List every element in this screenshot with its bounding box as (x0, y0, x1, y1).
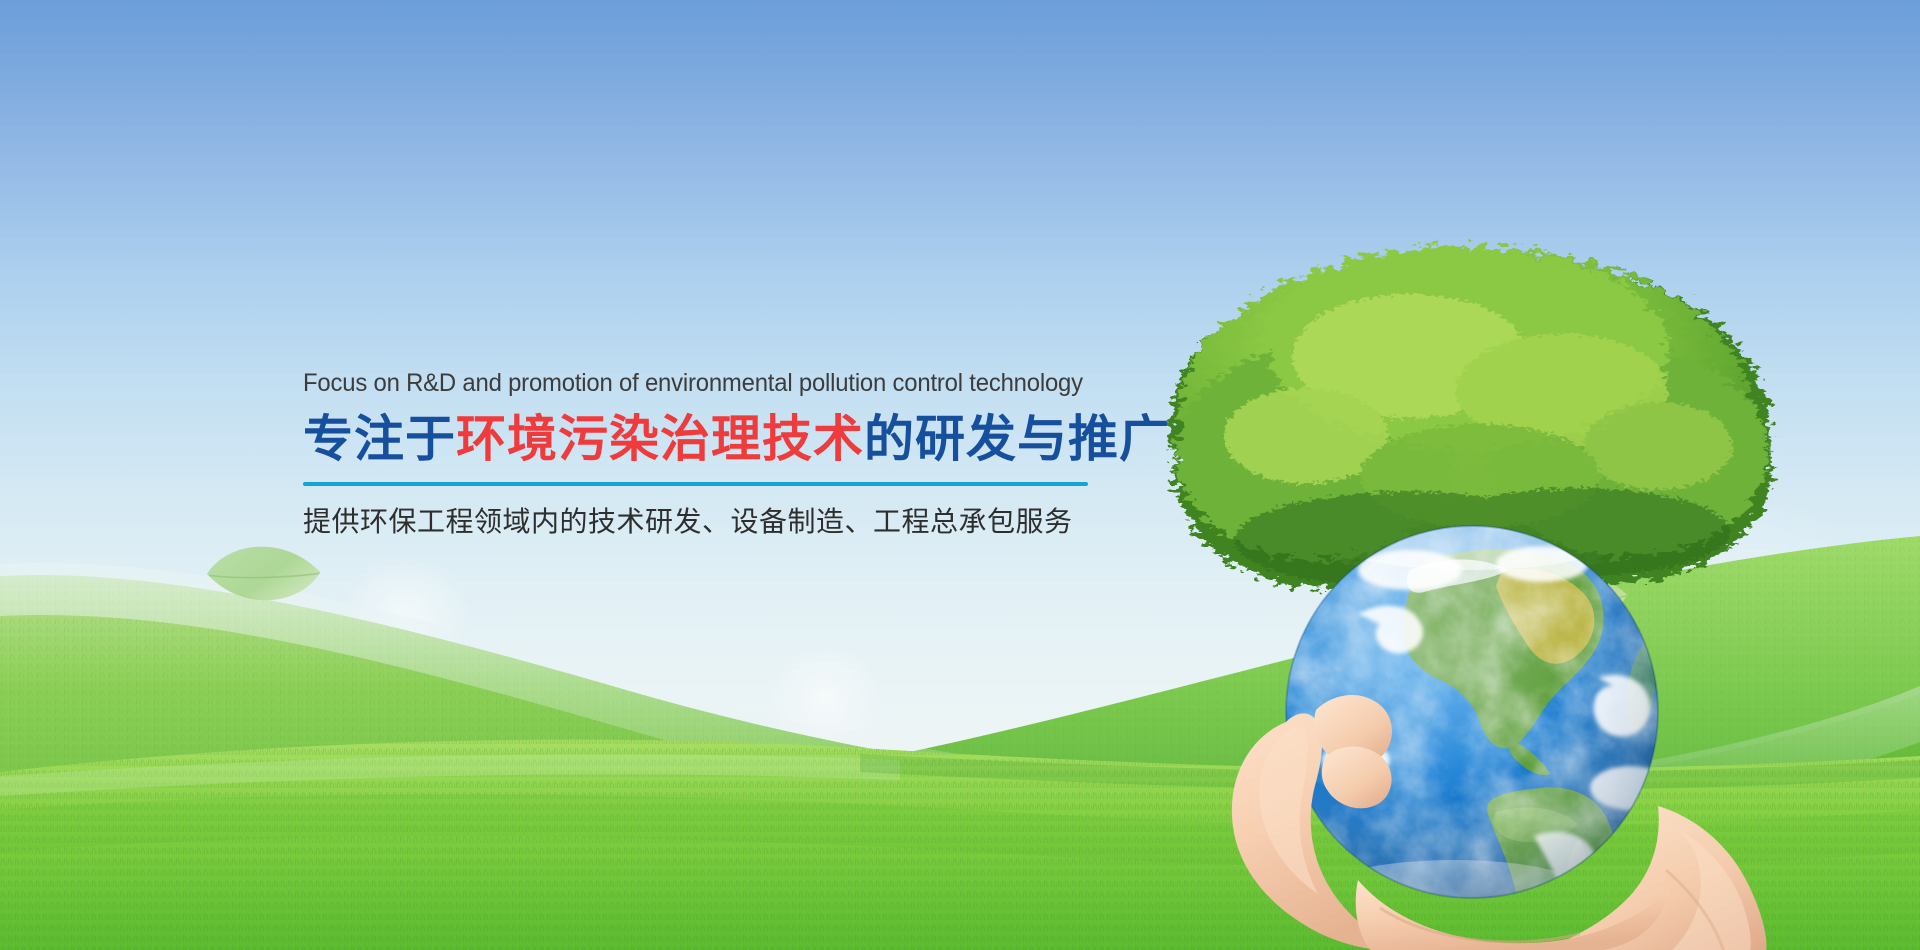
hero-headline: 专注于环境污染治理技术的研发与推广 (303, 410, 1103, 468)
hero-eyebrow-text: Focus on R&D and promotion of environmen… (303, 368, 1067, 398)
hero-copy-block: Focus on R&D and promotion of environmen… (303, 368, 1103, 540)
headline-segment-lead: 专注于 (303, 410, 456, 468)
hero-banner: Focus on R&D and promotion of environmen… (0, 0, 1920, 950)
headline-segment-highlight: 环境污染治理技术 (456, 410, 864, 468)
headline-segment-tail: 的研发与推广 (864, 410, 1170, 468)
hero-subline-text: 提供环保工程领域内的技术研发、设备制造、工程总承包服务 (303, 504, 1103, 540)
headline-divider (303, 482, 1088, 486)
tree-globe-hands-artwork (1110, 240, 1830, 950)
